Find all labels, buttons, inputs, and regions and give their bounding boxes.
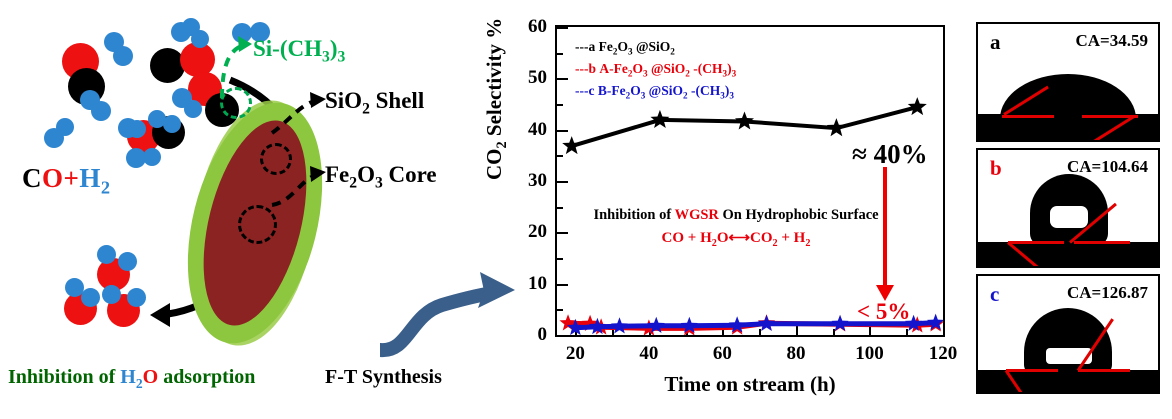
inhibition-o: O: [143, 366, 159, 388]
hydrogen-atom: [128, 120, 146, 138]
hydrogen-atom: [143, 148, 161, 166]
hydrogen-atom: [191, 30, 209, 48]
ca-panel-c: c CA=126.87: [976, 274, 1160, 394]
core-sub2: 3: [375, 175, 383, 192]
ca-panel-a: a CA=34.59: [976, 22, 1160, 142]
droplet-b-highlight: [1050, 206, 1088, 228]
silane-sub2: 3: [337, 49, 345, 66]
silane-callout-circle: [220, 87, 252, 119]
y-tick-label: 50: [505, 67, 547, 89]
inhibition-pre: Inhibition of: [8, 366, 120, 388]
core-callout-circle: [238, 205, 277, 244]
y-tick-label: 0: [505, 324, 547, 346]
data-point-marker: [611, 317, 628, 333]
x-axis-title: Time on stream (h): [555, 372, 945, 397]
inhibition-caption: Inhibition of H2O adsorption: [8, 366, 255, 392]
data-point-marker: [562, 136, 581, 154]
ca-panel-b: b CA=104.64: [976, 148, 1160, 268]
reactant-label: CO+H2: [22, 163, 111, 198]
label-h-sub: 2: [101, 177, 111, 197]
shell-callout-circle: [260, 143, 292, 175]
ca-value-c: CA=126.87: [1067, 283, 1148, 303]
core-shell-particle: [185, 95, 325, 350]
ca-value-a: CA=34.59: [1076, 31, 1149, 51]
y-tick-label: 20: [505, 221, 547, 243]
hydrogen-atom: [91, 101, 111, 121]
baseline-a-left: [1002, 115, 1054, 118]
co2-selectivity-chart: CO2 Selectivity % Time on stream (h) 010…: [490, 0, 970, 419]
y-tick-major: [557, 335, 568, 337]
x-tick-label: 80: [786, 343, 805, 365]
contact-angle-panels: a CA=34.59 b CA=104.64 c CA=126.87: [968, 22, 1168, 400]
label-h: H: [79, 163, 101, 193]
ca-tag-c: c: [990, 282, 999, 307]
ca-tag-a: a: [990, 30, 1001, 55]
x-tick-label: 120: [929, 343, 958, 365]
y-tick-label: 10: [505, 273, 547, 295]
hydrogen-atom: [127, 288, 146, 307]
data-point-marker: [758, 315, 775, 331]
core-mid: O: [357, 162, 375, 187]
x-tick-label: 100: [855, 343, 884, 365]
inhibition-post: adsorption: [158, 366, 255, 388]
data-point-marker: [827, 118, 846, 136]
label-plus: +: [64, 163, 80, 193]
hydrogen-atom: [81, 288, 100, 307]
baseline-c-right: [1078, 369, 1130, 372]
series-c: [567, 314, 943, 335]
inhibition-h: H: [120, 366, 136, 388]
x-tick-label: 40: [639, 343, 658, 365]
ca-tag-b: b: [990, 156, 1002, 181]
y-tick-label: 60: [505, 16, 547, 38]
label-o: O: [42, 163, 64, 193]
baseline-b-right: [1074, 241, 1130, 244]
label-c: C: [22, 163, 42, 193]
data-point-marker: [832, 315, 849, 331]
inhibition-h-sub: 2: [136, 376, 143, 391]
carbon-atom: [150, 48, 185, 83]
data-point-marker: [908, 97, 927, 115]
ft-synthesis-caption: F-T Synthesis: [325, 366, 442, 389]
hydrogen-atom: [118, 252, 137, 271]
silane-sub1: 3: [322, 49, 330, 66]
y-axis-title: CO2 Selectivity %: [482, 18, 511, 180]
hydrogen-atom: [113, 46, 133, 66]
fe2o3-core-label: Fe2O3 Core: [325, 162, 437, 193]
data-series-layer: [557, 27, 943, 335]
series-a: [562, 97, 927, 154]
x-tick-label: 20: [566, 343, 585, 365]
silane-text: Si-(CH: [253, 36, 322, 61]
shell-text: SiO: [325, 88, 362, 113]
plot-area: 010203040506020406080100120 ---a Fe2O3 @…: [555, 25, 945, 337]
hydrogen-atom: [232, 23, 252, 43]
data-point-marker: [735, 111, 754, 129]
core-text: Fe: [325, 162, 349, 187]
hydrogen-atom: [97, 245, 116, 264]
hydrogen-atom: [163, 115, 181, 133]
data-point-marker: [650, 110, 669, 128]
baseline-c-left: [1006, 369, 1058, 372]
sio2-shell-label: SiO2 Shell: [325, 88, 424, 119]
x-tick-label: 60: [713, 343, 732, 365]
y-tick-label: 40: [505, 119, 547, 141]
y-tick-label: 30: [505, 170, 547, 192]
shell-tail: Shell: [370, 88, 424, 113]
ca-value-b: CA=104.64: [1067, 157, 1148, 177]
x-tick-major: [943, 324, 945, 335]
droplet-a: [1000, 74, 1136, 120]
hydrogen-atom: [102, 285, 121, 304]
shell-sub: 2: [362, 101, 370, 118]
silane-label: Si-(CH3)3: [253, 36, 345, 67]
core-tail: Core: [383, 162, 437, 187]
baseline-b-left: [1008, 241, 1064, 244]
hydrogen-atom: [56, 118, 74, 136]
core-sub1: 2: [349, 175, 357, 192]
